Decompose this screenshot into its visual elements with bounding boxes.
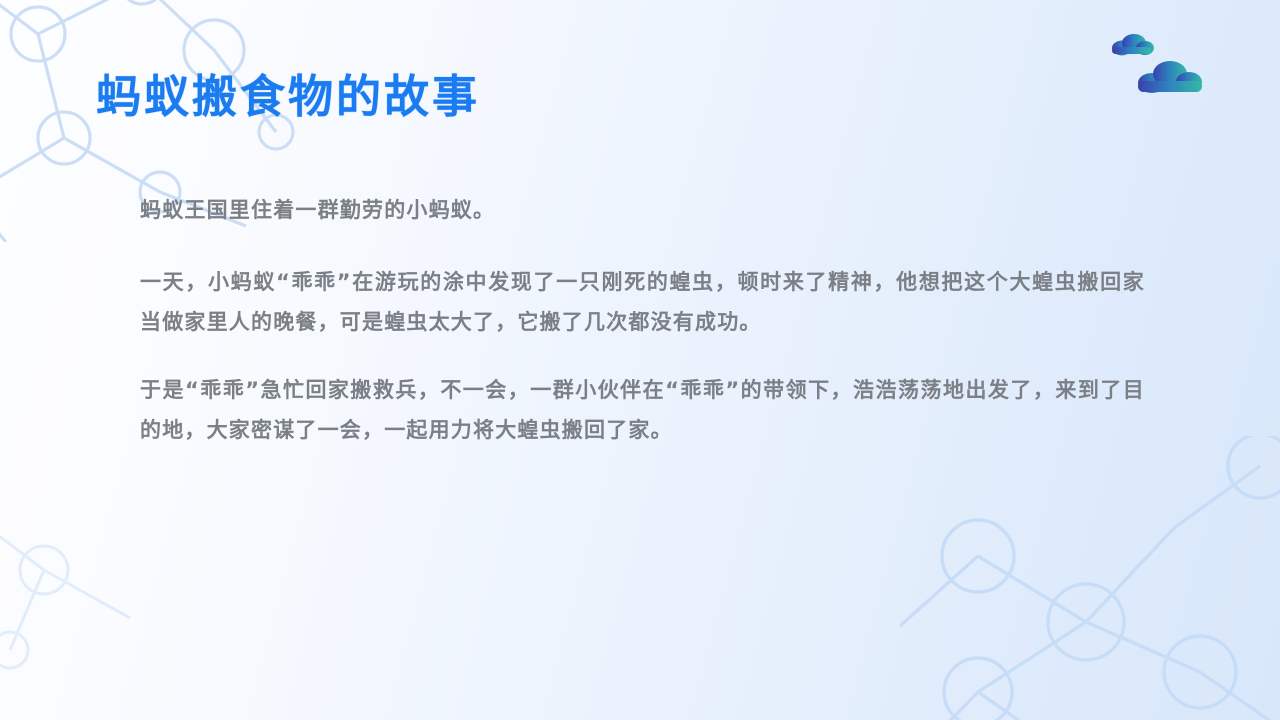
title-container: 蚂蚁搬食物的故事 <box>96 72 480 122</box>
paragraph-2: 一天，小蚂蚁“乖乖”在游玩的涂中发现了一只刚死的蝗虫，顿时来了精神，他想把这个大… <box>140 262 1145 342</box>
page-title: 蚂蚁搬食物的故事 <box>96 72 480 122</box>
slide-canvas: 蚂蚁搬食物的故事 蚂蚁王国里住着一群勤劳的小蚂蚁。 一天，小蚂蚁“乖乖”在游玩的… <box>0 0 1280 720</box>
body-content: 蚂蚁王国里住着一群勤劳的小蚂蚁。 一天，小蚂蚁“乖乖”在游玩的涂中发现了一只刚死… <box>140 190 1145 450</box>
paragraph-1: 蚂蚁王国里住着一群勤劳的小蚂蚁。 <box>140 190 1145 230</box>
paragraph-3: 于是“乖乖”急忙回家搬救兵，不一会，一群小伙伴在“乖乖”的带领下，浩浩荡荡地出发… <box>140 370 1145 450</box>
molecule-network-icon-secondary <box>0 500 140 680</box>
clouds-icon <box>1104 28 1234 108</box>
molecule-network-icon-bottom <box>900 436 1280 720</box>
